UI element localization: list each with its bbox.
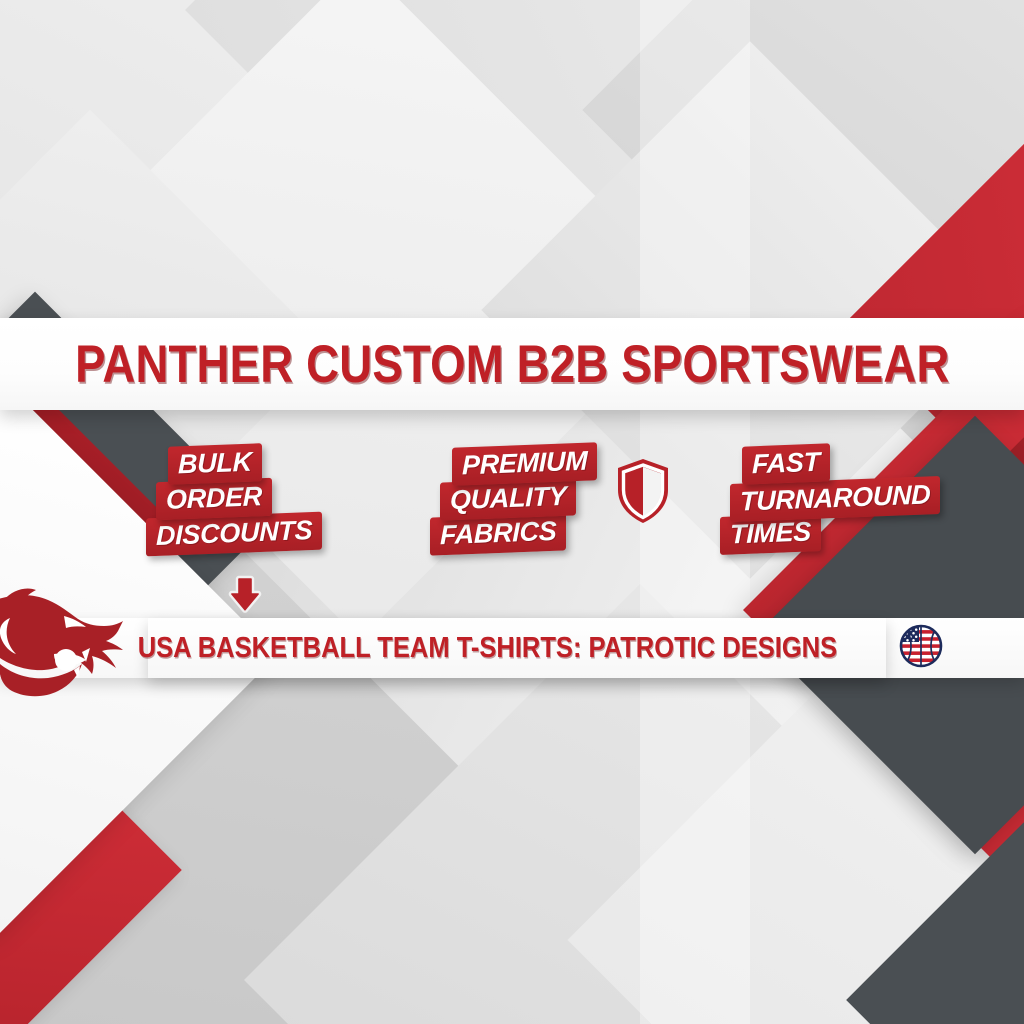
feature-badge-bulk-order-discounts[interactable]: BULK ORDER DISCOUNTS: [168, 448, 322, 620]
feature-badges: BULK ORDER DISCOUNTS PREMIUM QUALITY FAB…: [0, 440, 1024, 600]
feature-badge-line: BULK: [168, 443, 262, 485]
title-band: PANTHER CUSTOM B2B SPORTSWEAR: [0, 318, 1024, 410]
down-arrow-icon: [228, 575, 262, 620]
feature-badge-premium-quality-fabrics[interactable]: PREMIUM QUALITY FABRICS: [452, 448, 671, 553]
promotional-banner: PANTHER CUSTOM B2B SPORTSWEAR BULK ORDER…: [0, 0, 1024, 1024]
feature-badge-lines: BULK ORDER DISCOUNTS: [168, 448, 322, 553]
feature-badge-line: PREMIUM: [452, 442, 597, 486]
feature-badge-line: FAST: [742, 443, 830, 484]
feature-badge-fast-turnaround-times[interactable]: FAST TURNAROUND TIMES: [742, 448, 940, 553]
page-title: PANTHER CUSTOM B2B SPORTSWEAR: [75, 338, 949, 391]
panther-logo: [0, 586, 152, 706]
subtitle-band: USA BASKETBALL TEAM T-SHIRTS: PATROTIC D…: [148, 618, 886, 678]
usa-flag-basketball-icon: [898, 623, 944, 674]
subtitle-text: USA BASKETBALL TEAM T-SHIRTS: PATROTIC D…: [137, 634, 836, 663]
feature-badge-lines: FAST TURNAROUND TIMES: [742, 448, 940, 553]
feature-badge-lines: PREMIUM QUALITY FABRICS: [452, 448, 597, 553]
shield-icon: [615, 457, 671, 530]
